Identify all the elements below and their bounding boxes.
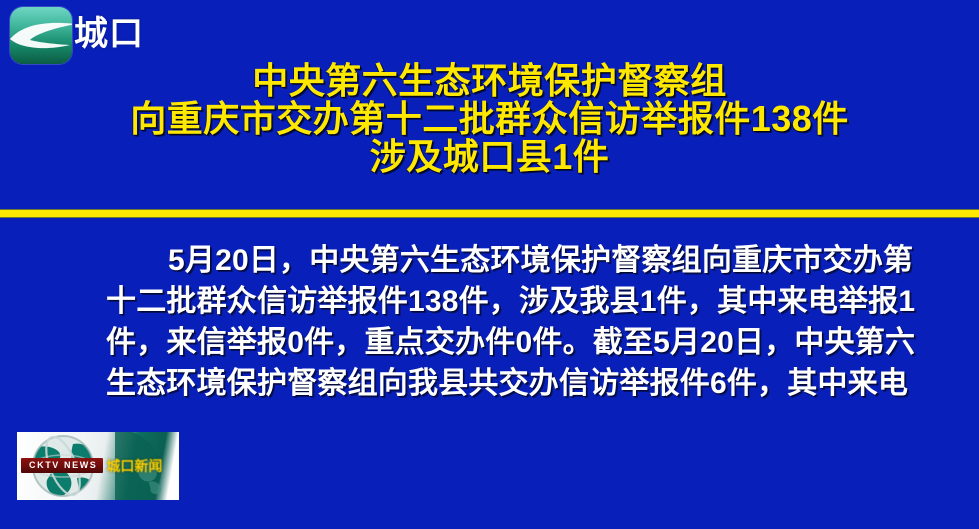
station-bug-label: 城口 bbox=[74, 17, 144, 55]
body-line-1: 5月20日，中央第六生态环境保护督察组向重庆市交办第 bbox=[106, 240, 906, 281]
swoosh-shape-icon bbox=[10, 21, 72, 55]
broadcast-screen: 城口 中央第六生态环境保护督察组 向重庆市交办第十二批群众信访举报件138件 涉… bbox=[0, 0, 979, 529]
headline-line-1: 中央第六生态环境保护督察组 bbox=[0, 62, 979, 100]
body-line-2: 十二批群众信访举报件138件，涉及我县1件，其中来电举报1 bbox=[106, 281, 906, 322]
news-logo-banner: CKTV NEWS 城口新闻 bbox=[21, 457, 175, 474]
body-copy-block: 5月20日，中央第六生态环境保护督察组向重庆市交办第 十二批群众信访举报件138… bbox=[106, 240, 906, 404]
station-bug: 城口 bbox=[10, 7, 144, 64]
headline-line-2: 向重庆市交办第十二批群众信访举报件138件 bbox=[0, 100, 979, 138]
headline-block: 中央第六生态环境保护督察组 向重庆市交办第十二批群众信访举报件138件 涉及城口… bbox=[0, 62, 979, 176]
body-line-4: 生态环境保护督察组向我县共交办信访举报件6件，其中来电 bbox=[106, 363, 906, 404]
body-line-3: 件，来信举报0件，重点交办件0件。截至5月20日，中央第六 bbox=[106, 322, 906, 363]
news-logo-english-label: CKTV NEWS bbox=[21, 458, 103, 473]
news-logo: CKTV NEWS 城口新闻 bbox=[17, 432, 179, 500]
swoosh-logo-icon bbox=[10, 7, 72, 64]
yellow-divider bbox=[0, 209, 979, 218]
news-logo-chinese-label: 城口新闻 bbox=[106, 459, 162, 473]
headline-line-3: 涉及城口县1件 bbox=[0, 138, 979, 176]
